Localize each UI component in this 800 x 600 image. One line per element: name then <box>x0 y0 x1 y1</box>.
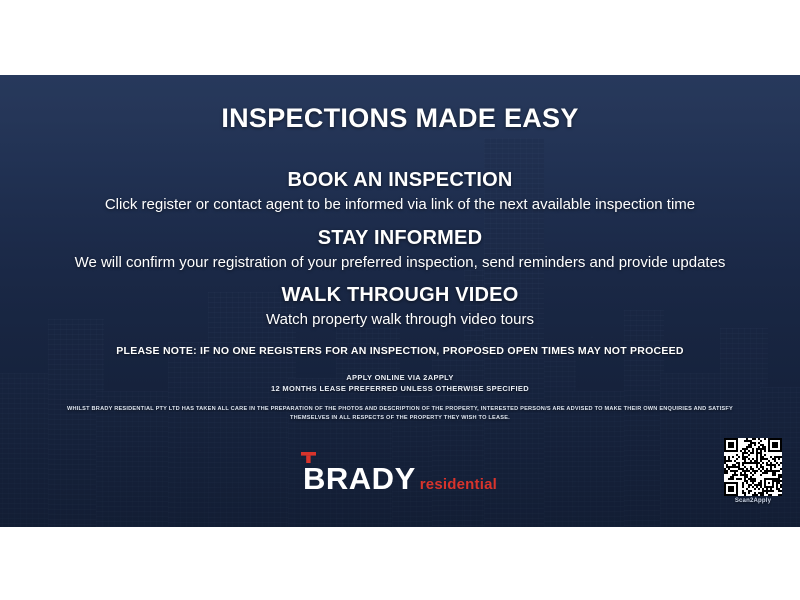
roof-mark-icon <box>301 452 316 463</box>
section-stay-informed: STAY INFORMED We will confirm your regis… <box>0 227 800 271</box>
brady-residential-logo: BRADY residential <box>0 463 800 494</box>
scan2apply-block[interactable]: Scan2Apply <box>722 438 784 504</box>
section-subtext: We will confirm your registration of you… <box>0 254 800 271</box>
disclaimer-text: WHILST BRADY RESIDENTIAL PTY LTD HAS TAK… <box>60 405 740 423</box>
apply-online-line: APPLY ONLINE VIA 2APPLY <box>0 372 800 383</box>
section-subtext: Watch property walk through video tours <box>0 311 800 328</box>
apply-info: APPLY ONLINE VIA 2APPLY 12 MONTHS LEASE … <box>0 372 800 394</box>
logo-descriptor: residential <box>420 477 497 492</box>
page-title: INSPECTIONS MADE EASY <box>0 103 800 134</box>
banner-content: INSPECTIONS MADE EASY BOOK AN INSPECTION… <box>0 75 800 527</box>
poster-page: INSPECTIONS MADE EASY BOOK AN INSPECTION… <box>0 0 800 600</box>
qr-label: Scan2Apply <box>722 498 784 504</box>
section-heading: WALK THROUGH VIDEO <box>0 284 800 307</box>
inspection-banner: INSPECTIONS MADE EASY BOOK AN INSPECTION… <box>0 75 800 527</box>
qr-code-icon[interactable] <box>724 438 782 496</box>
section-book-an-inspection: BOOK AN INSPECTION Click register or con… <box>0 169 800 213</box>
logo-name: BRADY <box>303 463 416 494</box>
section-walk-through-video: WALK THROUGH VIDEO Watch property walk t… <box>0 284 800 328</box>
please-note-text: PLEASE NOTE: IF NO ONE REGISTERS FOR AN … <box>0 345 800 357</box>
lease-term-line: 12 MONTHS LEASE PREFERRED UNLESS OTHERWI… <box>0 383 800 394</box>
section-heading: STAY INFORMED <box>0 227 800 250</box>
section-subtext: Click register or contact agent to be in… <box>0 196 800 213</box>
section-heading: BOOK AN INSPECTION <box>0 169 800 192</box>
